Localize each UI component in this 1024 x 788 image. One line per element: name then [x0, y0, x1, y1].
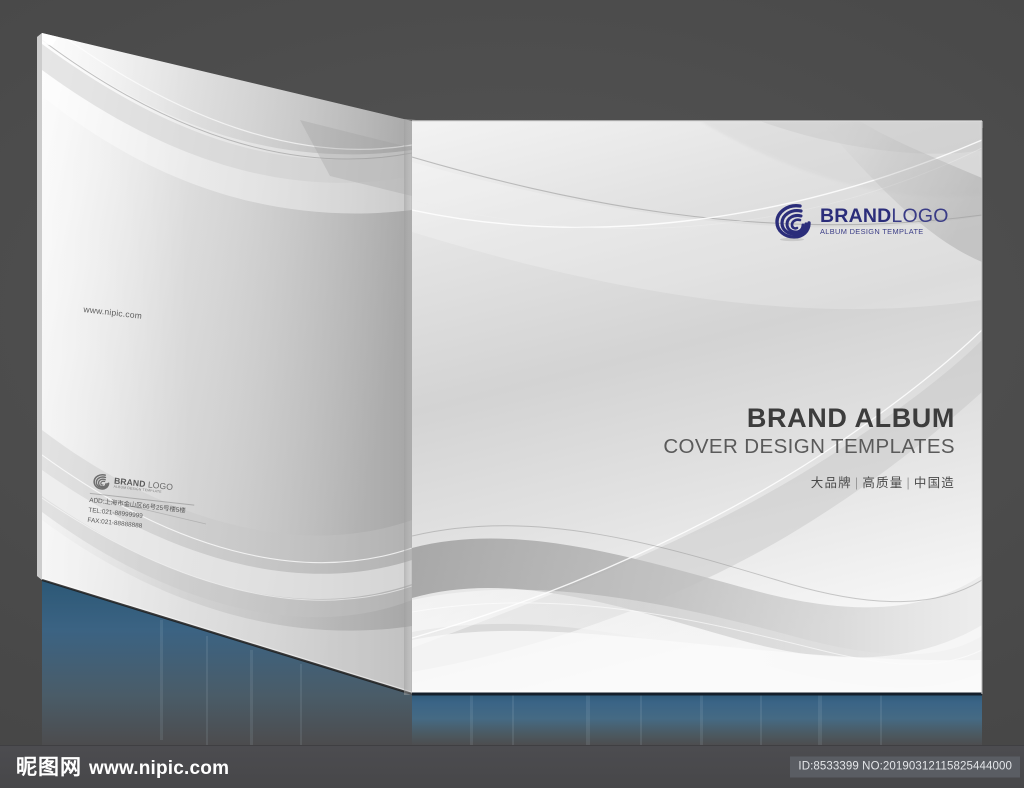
watermark-site-name-cn: 昵图网: [16, 757, 82, 778]
front-logo-wordmark: BRANDLOGO ALBUM DESIGN TEMPLATE: [820, 205, 949, 236]
back-logo-wordmark: BRAND LOGO ALBUM DESIGN TEMPLATE: [113, 476, 173, 496]
cover-slogan: 大品牌|高质量|中国造: [620, 472, 955, 491]
slogan-part-3: 中国造: [914, 476, 955, 490]
watermark-site-url: www.nipic.com: [89, 759, 229, 778]
slogan-part-2: 高质量: [862, 476, 903, 490]
watermark-bar: 昵图网 www.nipic.com ID:8533399 NO:20190312…: [0, 745, 1024, 788]
front-logo-name: BRANDLOGO: [820, 207, 949, 227]
slogan-separator-2: |: [903, 476, 913, 490]
front-logo-tagline: ALBUM DESIGN TEMPLATE: [820, 228, 949, 235]
slogan-separator-1: |: [852, 476, 862, 490]
back-cover-panel: [37, 33, 412, 694]
album-cover-mockup-artwork: [0, 0, 1024, 745]
globe-swirl-logo-icon: [90, 470, 112, 492]
cover-sub-title: COVER DESIGN TEMPLATES: [620, 434, 955, 460]
cover-main-title: BRAND ALBUM: [620, 404, 955, 432]
slogan-part-1: 大品牌: [811, 476, 852, 490]
globe-swirl-logo-icon: [770, 198, 814, 242]
watermark-brand[interactable]: 昵图网 www.nipic.com: [16, 757, 229, 778]
front-cover-logo: BRANDLOGO ALBUM DESIGN TEMPLATE: [770, 196, 950, 244]
screenshot-canvas: BRANDLOGO ALBUM DESIGN TEMPLATE BRAND AL…: [0, 0, 1024, 788]
image-id-badge: ID:8533399 NO:20190312115825444000: [790, 757, 1020, 778]
front-cover-title-block: BRAND ALBUM COVER DESIGN TEMPLATES 大品牌|高…: [620, 404, 955, 491]
